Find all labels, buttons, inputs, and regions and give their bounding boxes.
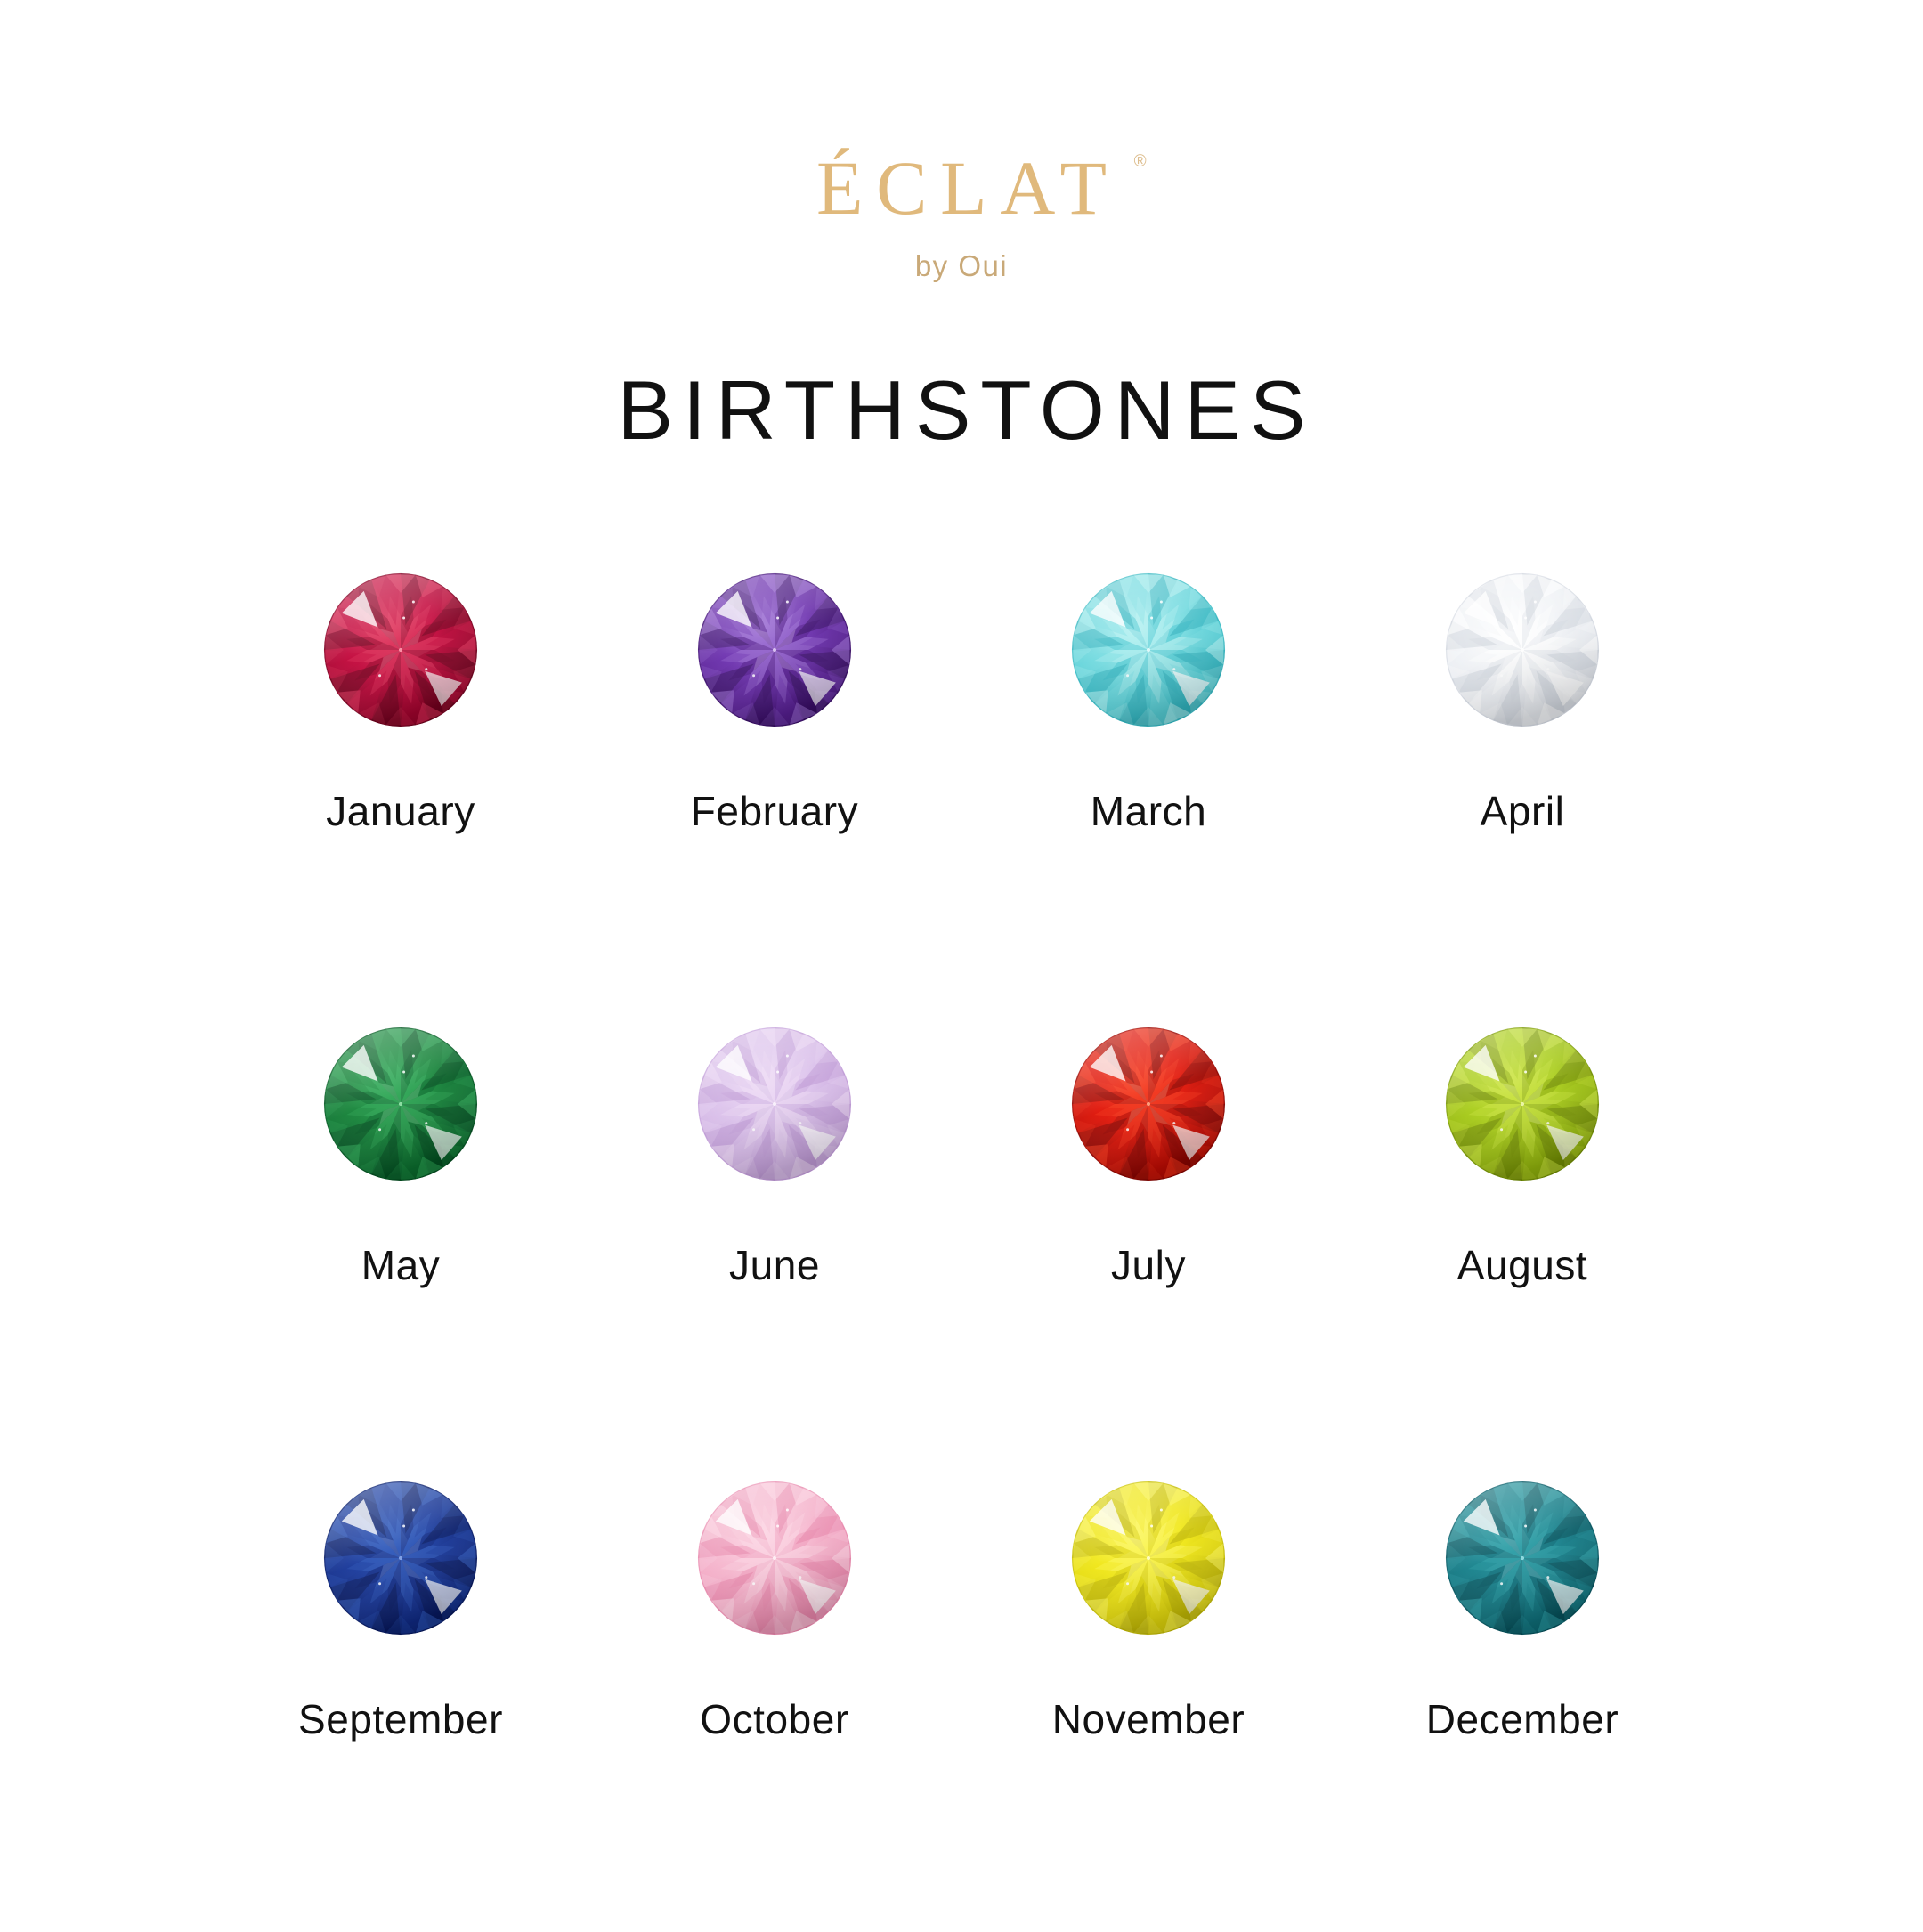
birthstone-cell-may[interactable]: May [214, 1024, 588, 1478]
month-label: April [1481, 791, 1565, 832]
month-label: June [729, 1245, 820, 1286]
month-label: November [1052, 1699, 1245, 1740]
brand-logo: ÉCLAT® by Oui [0, 150, 1923, 283]
month-label: March [1091, 791, 1207, 832]
birthstone-cell-july[interactable]: July [961, 1024, 1335, 1478]
birthstone-cell-march[interactable]: March [961, 570, 1335, 1024]
month-label: August [1457, 1245, 1588, 1286]
amethyst-gem-icon[interactable] [694, 570, 855, 730]
month-label: September [298, 1699, 503, 1740]
aquamarine-gem-icon[interactable] [1068, 570, 1229, 730]
birthstone-cell-october[interactable]: October [588, 1478, 961, 1932]
sapphire-gem-icon[interactable] [320, 1478, 481, 1638]
birthstone-cell-april[interactable]: April [1335, 570, 1709, 1024]
birthstone-cell-november[interactable]: November [961, 1478, 1335, 1932]
birthstone-cell-december[interactable]: December [1335, 1478, 1709, 1932]
month-label: January [326, 791, 475, 832]
garnet-gem-icon[interactable] [320, 570, 481, 730]
citrine-gem-icon[interactable] [1068, 1478, 1229, 1638]
birthstone-cell-august[interactable]: August [1335, 1024, 1709, 1478]
emerald-gem-icon[interactable] [320, 1024, 481, 1184]
tourmaline-gem-icon[interactable] [694, 1478, 855, 1638]
zircon-gem-icon[interactable] [1442, 1478, 1602, 1638]
month-label: May [361, 1245, 441, 1286]
ruby-gem-icon[interactable] [1068, 1024, 1229, 1184]
birthstone-cell-january[interactable]: January [214, 570, 588, 1024]
birthstone-cell-september[interactable]: September [214, 1478, 588, 1932]
brand-name-text: ÉCLAT [816, 145, 1120, 231]
birthstone-grid: JanuaryFebruaryMarchAprilMayJuneJulyAugu… [214, 570, 1709, 1932]
month-label: February [691, 791, 858, 832]
month-label: July [1111, 1245, 1186, 1286]
registered-trademark-icon: ® [1121, 153, 1147, 170]
month-label: October [700, 1699, 849, 1740]
alexandrite-gem-icon[interactable] [694, 1024, 855, 1184]
birthstone-cell-june[interactable]: June [588, 1024, 961, 1478]
birthstone-cell-february[interactable]: February [588, 570, 961, 1024]
diamond-gem-icon[interactable] [1442, 570, 1602, 730]
birthstones-poster: ÉCLAT® by Oui BIRTHSTONES JanuaryFebruar… [0, 0, 1923, 1923]
brand-tagline: by Oui [0, 249, 1923, 283]
peridot-gem-icon[interactable] [1442, 1024, 1602, 1184]
page-title: BIRTHSTONES [0, 369, 1923, 452]
month-label: December [1426, 1699, 1619, 1740]
brand-name: ÉCLAT® [803, 150, 1119, 226]
